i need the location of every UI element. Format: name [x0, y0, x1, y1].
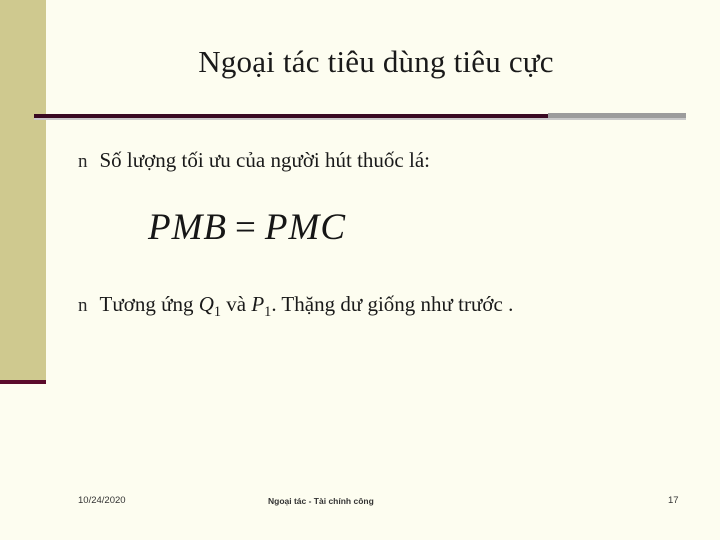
title-divider-grey	[548, 113, 686, 118]
bullet-text-1: Số lượng tối ưu của người hút thuốc lá:	[100, 148, 431, 173]
footer-page-number: 17	[668, 495, 679, 506]
formula-right-term: PMC	[265, 207, 346, 248]
bullet-text-2: Tương ứng Q1 và P1. Thặng dư giống như t…	[100, 292, 514, 321]
bullet2-subscript-q: 1	[214, 304, 221, 320]
footer-title: Ngoại tác - Tài chính công	[268, 496, 374, 506]
bullet2-mid: và	[221, 292, 251, 316]
bullet-item-1: n Số lượng tối ưu của người hút thuốc lá…	[78, 148, 430, 173]
sidebar-decoration-olive	[0, 0, 46, 380]
slide-canvas: Ngoại tác tiêu dùng tiêu cực n Số lượng …	[0, 0, 720, 540]
title-divider-dark	[34, 114, 548, 118]
bullet2-prefix: Tương ứng	[100, 292, 199, 316]
title-divider-light	[34, 118, 686, 120]
bullet-marker-icon: n	[78, 152, 88, 171]
formula-pmb-equals-pmc: PMB=PMC	[148, 206, 346, 249]
formula-left-term: PMB	[148, 207, 227, 248]
bullet2-variable-q: Q	[199, 292, 214, 316]
footer-date: 10/24/2020	[78, 495, 126, 506]
formula-operator: =	[235, 207, 257, 248]
bullet2-variable-p: P	[251, 292, 264, 316]
bullet-item-2: n Tương ứng Q1 và P1. Thặng dư giống như…	[78, 292, 513, 321]
bullet2-suffix: . Thặng dư giống như trước .	[271, 292, 513, 316]
bullet-marker-icon: n	[78, 296, 88, 315]
sidebar-decoration-maroon-line	[0, 380, 46, 384]
slide-title: Ngoại tác tiêu dùng tiêu cực	[46, 44, 706, 80]
